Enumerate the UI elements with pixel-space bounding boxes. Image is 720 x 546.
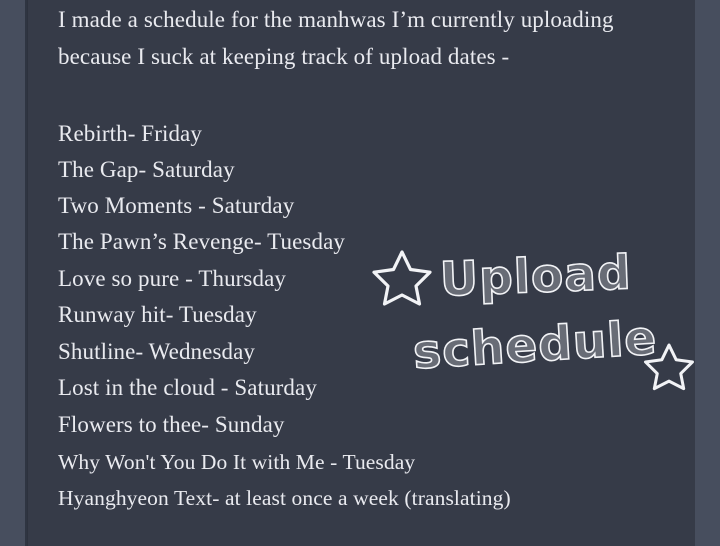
schedule-row-rebirth: Rebirth- Friday <box>58 121 202 147</box>
schedule-row-two-moments: Two Moments - Saturday <box>58 193 294 219</box>
schedule-row-flowers-to-thee: Flowers to thee- Sunday <box>58 412 285 438</box>
intro-line-1: I made a schedule for the manhwas I’m cu… <box>58 7 678 33</box>
post-text-block: I made a schedule for the manhwas I’m cu… <box>58 0 698 546</box>
schedule-row-shutline: Shutline- Wednesday <box>58 339 255 365</box>
schedule-row-love-so-pure: Love so pure - Thursday <box>58 266 286 292</box>
canvas-left-seam <box>25 0 28 546</box>
intro-line-2: because I suck at keeping track of uploa… <box>58 44 678 70</box>
screenshot-root: I made a schedule for the manhwas I’m cu… <box>0 0 720 546</box>
schedule-row-pawns-revenge: The Pawn’s Revenge- Tuesday <box>58 229 345 255</box>
schedule-row-runway-hit: Runway hit- Tuesday <box>58 302 257 328</box>
schedule-row-why-wont-you-do-it-with-me: Why Won't You Do It with Me - Tuesday <box>58 450 415 475</box>
schedule-row-the-gap: The Gap- Saturday <box>58 157 235 183</box>
schedule-row-lost-in-the-cloud: Lost in the cloud - Saturday <box>58 375 317 401</box>
schedule-row-hyanghyeon-text: Hyanghyeon Text- at least once a week (t… <box>58 486 511 511</box>
